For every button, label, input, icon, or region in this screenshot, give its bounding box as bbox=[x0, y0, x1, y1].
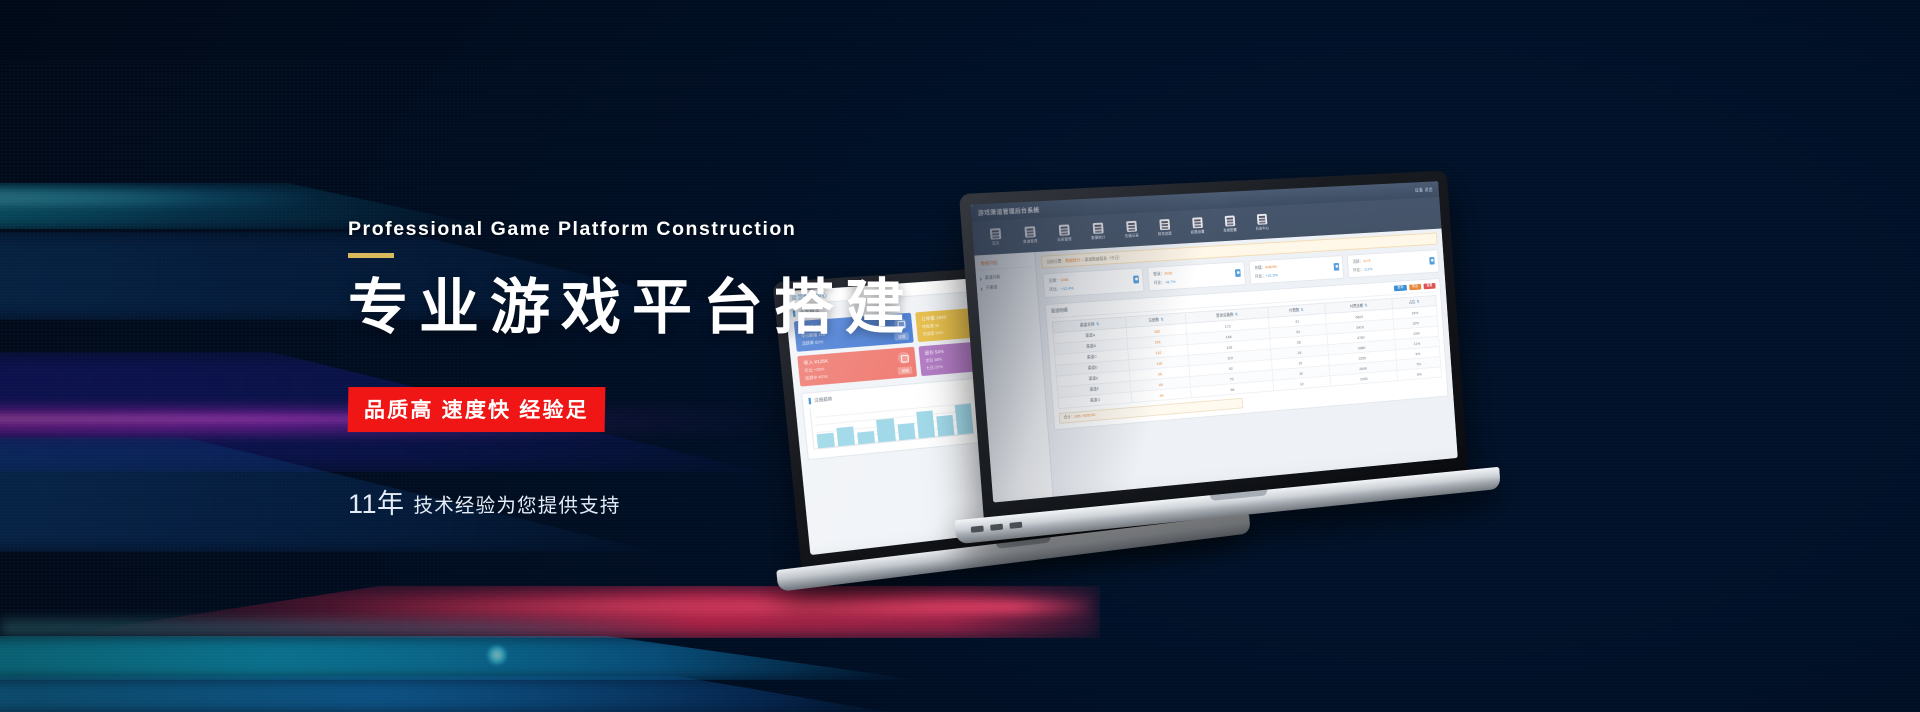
port-icon bbox=[971, 526, 984, 533]
data-panel: 渠道明细 查询 导出 重置 bbox=[1045, 278, 1449, 431]
toolbar-item-label: 日志中心 bbox=[1255, 226, 1269, 232]
sort-icon[interactable]: ⇅ bbox=[1096, 321, 1099, 326]
breadcrumb-link[interactable]: 数据统计 bbox=[1065, 257, 1080, 263]
summary-label: 登录： bbox=[1153, 271, 1164, 277]
table-footer-value: 835 / ¥28790 bbox=[1074, 413, 1095, 419]
reset-button[interactable]: 重置 bbox=[1423, 282, 1435, 289]
summary-label: 注册： bbox=[1048, 277, 1060, 283]
summary-card[interactable]: 充值：¥38260 环比：+21.5% bbox=[1249, 255, 1345, 284]
toolbar-item-label: 系统配置 bbox=[1223, 228, 1237, 234]
summary-label: 活跃： bbox=[1352, 259, 1363, 264]
summary-subvalue: +12.4% bbox=[1060, 285, 1073, 291]
port-icon bbox=[990, 524, 1003, 531]
years-value: 11年 bbox=[348, 489, 405, 519]
app-titlebar-actions[interactable]: 设置 退出 bbox=[1415, 187, 1433, 194]
chart-icon bbox=[1334, 263, 1340, 271]
panel-title: 渠道明细 bbox=[1051, 307, 1068, 314]
panel-buttons: 查询 导出 重置 bbox=[1394, 282, 1435, 291]
summary-sublabel: 环比： bbox=[1154, 279, 1165, 285]
summary-sublabel: 环比： bbox=[1353, 267, 1364, 272]
table-footer-label: 合计： bbox=[1064, 415, 1075, 420]
summary-card[interactable]: 注册：1286 环比：+12.4% bbox=[1042, 267, 1144, 297]
config-icon bbox=[1224, 215, 1235, 226]
chart-icon bbox=[1235, 269, 1241, 277]
sort-icon[interactable]: ⇅ bbox=[1300, 307, 1303, 312]
sort-icon[interactable]: ⇅ bbox=[1235, 312, 1238, 317]
toolbar-item-label: 权限设置 bbox=[1191, 230, 1205, 236]
headline-block: Professional Game Platform Construction … bbox=[348, 218, 1048, 521]
support-line: 11年技术经验为您提供支持 bbox=[348, 482, 1048, 521]
log-icon bbox=[1256, 214, 1267, 225]
gold-rule bbox=[348, 253, 394, 258]
app-main: 当前位置：数据统计 > 渠道数据报表（今日） 注册：1286 环比：+12.4% bbox=[1035, 229, 1458, 497]
status-badge: 品质高 速度快 经验足 bbox=[348, 387, 606, 432]
chart-icon bbox=[1133, 276, 1139, 284]
toolbar-config[interactable]: 系统配置 bbox=[1214, 215, 1246, 234]
sort-icon[interactable]: ⇅ bbox=[1416, 299, 1419, 304]
export-button[interactable]: 导出 bbox=[1409, 283, 1421, 290]
breadcrumb-suffix: > 渠道数据报表（今日） bbox=[1080, 254, 1122, 261]
player-icon bbox=[1058, 224, 1069, 235]
summary-sublabel: 环比： bbox=[1255, 273, 1266, 278]
support-text: 技术经验为您提供支持 bbox=[414, 495, 621, 517]
app-title: 游戏渠道管理后台系统 bbox=[978, 205, 1040, 217]
toolbar-finance[interactable]: 财务结算 bbox=[1148, 218, 1180, 237]
summary-card[interactable]: 活跃：2175 环比：-3.2% bbox=[1347, 249, 1440, 278]
laptop-front-ports bbox=[971, 522, 1023, 533]
finance-icon bbox=[1159, 219, 1170, 230]
summary-value: ¥38260 bbox=[1265, 264, 1277, 270]
toolbar-stats[interactable]: 数据统计 bbox=[1081, 222, 1114, 241]
summary-value: 2175 bbox=[1363, 258, 1371, 263]
toolbar-item-label: 数据统计 bbox=[1091, 235, 1106, 241]
toolbar-recharge[interactable]: 充值记录 bbox=[1115, 220, 1148, 239]
summary-value: 1286 bbox=[1060, 277, 1069, 282]
breadcrumb-prefix: 当前位置： bbox=[1046, 258, 1065, 264]
toolbar-item-label: 充值记录 bbox=[1125, 233, 1139, 239]
sort-icon[interactable]: ⇅ bbox=[1364, 303, 1367, 308]
page-title: 专业游戏平台搭建 bbox=[348, 274, 1048, 341]
toolbar-item-label: 玩家管理 bbox=[1057, 237, 1072, 243]
permission-icon bbox=[1192, 217, 1203, 228]
recharge-icon bbox=[1126, 221, 1137, 232]
summary-card[interactable]: 登录：4032 环比：+8.7% bbox=[1147, 261, 1246, 291]
summary-value: 4032 bbox=[1164, 270, 1173, 275]
table-cell: 5% bbox=[1397, 367, 1442, 381]
toolbar-player[interactable]: 玩家管理 bbox=[1047, 224, 1080, 244]
toolbar-log[interactable]: 日志中心 bbox=[1246, 213, 1277, 232]
toolbar-permission[interactable]: 权限设置 bbox=[1181, 217, 1213, 236]
summary-subvalue: +21.5% bbox=[1266, 272, 1278, 278]
toolbar-item-label: 财务结算 bbox=[1158, 231, 1172, 237]
summary-label: 充值： bbox=[1254, 265, 1265, 270]
query-button[interactable]: 查询 bbox=[1394, 284, 1406, 291]
stats-icon bbox=[1092, 223, 1103, 234]
promo-banner: Professional Game Platform Construction … bbox=[0, 0, 1920, 712]
summary-subvalue: -3.2% bbox=[1363, 266, 1372, 271]
summary-subvalue: +8.7% bbox=[1165, 278, 1176, 284]
sort-icon[interactable]: ⇅ bbox=[1160, 317, 1163, 322]
port-icon bbox=[1009, 522, 1022, 529]
chart-icon bbox=[1429, 257, 1435, 265]
summary-sublabel: 环比： bbox=[1049, 286, 1061, 292]
eyebrow-text: Professional Game Platform Construction bbox=[348, 218, 1048, 241]
